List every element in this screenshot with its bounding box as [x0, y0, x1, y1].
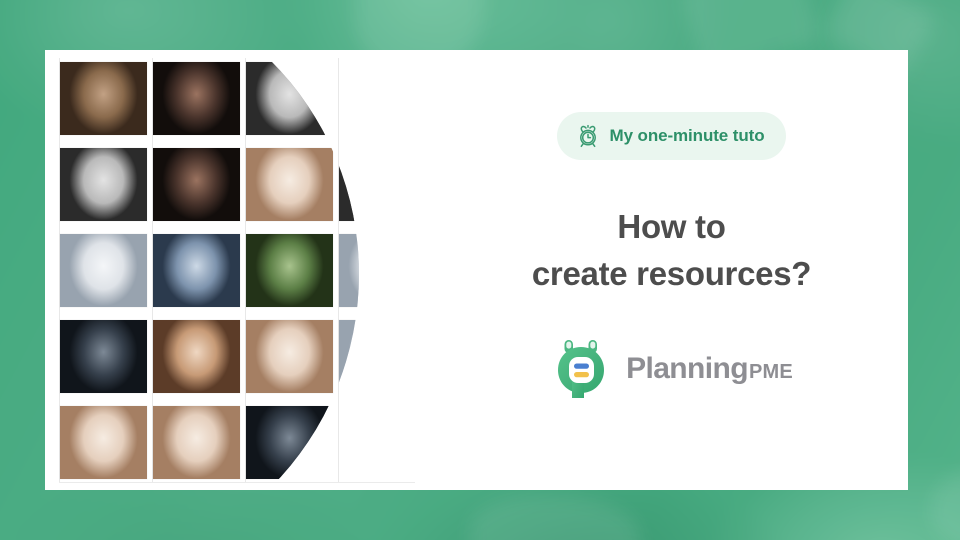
grid-rule-vertical [152, 58, 153, 482]
portrait-image [60, 320, 147, 393]
content-column: My one-minute tuto How to create resourc… [435, 50, 908, 490]
page-title: How to create resources? [532, 204, 811, 298]
portrait-thumbnail [339, 148, 426, 221]
photo-cell [243, 142, 336, 228]
photo-grid [57, 56, 429, 484]
portrait-image [153, 148, 240, 221]
grid-rule-vertical [245, 58, 246, 482]
content-card: My one-minute tuto How to create resourc… [45, 50, 908, 490]
portrait-image [60, 234, 147, 307]
portrait-image [246, 62, 333, 135]
tutorial-badge-label: My one-minute tuto [610, 126, 765, 146]
photo-cell [243, 228, 336, 314]
portrait-thumbnail [246, 148, 333, 221]
photo-cell [150, 142, 243, 228]
photo-cell [57, 314, 150, 400]
page-title-line-2: create resources? [532, 251, 811, 298]
portrait-thumbnail [246, 406, 333, 479]
planningpme-logo-icon [550, 338, 612, 400]
portrait-image [246, 320, 333, 393]
portrait-image [60, 62, 147, 135]
photo-cell [336, 400, 429, 486]
portrait-image [153, 320, 240, 393]
photo-cell [243, 56, 336, 142]
grid-rule-vertical [338, 58, 339, 482]
photo-cell [243, 400, 336, 486]
portrait-thumbnail [246, 62, 333, 135]
photo-cell [57, 142, 150, 228]
photo-wall [45, 50, 435, 490]
portrait-thumbnail [60, 62, 147, 135]
portrait-image [153, 62, 240, 135]
tutorial-badge: My one-minute tuto [557, 112, 787, 160]
portrait-thumbnail [60, 148, 147, 221]
portrait-image [339, 234, 426, 307]
brand-name-secondary: PME [749, 361, 793, 384]
portrait-image [60, 148, 147, 221]
portrait-thumbnail [60, 406, 147, 479]
slide-stage: My one-minute tuto How to create resourc… [0, 0, 960, 540]
portrait-thumbnail [339, 62, 426, 135]
photo-cell [336, 142, 429, 228]
portrait-thumbnail [60, 234, 147, 307]
photo-cell [336, 314, 429, 400]
portrait-image [60, 406, 147, 479]
photo-cell [150, 56, 243, 142]
brand-name-primary: Planning [626, 352, 748, 386]
brand-lockup: Planning PME [550, 338, 793, 400]
grid-rule-horizontal [59, 482, 415, 483]
portrait-image [339, 406, 426, 479]
portrait-thumbnail [246, 320, 333, 393]
portrait-thumbnail [153, 62, 240, 135]
portrait-thumbnail [339, 234, 426, 307]
grid-rule-vertical [59, 58, 60, 482]
portrait-thumbnail [339, 320, 426, 393]
photo-cell [57, 56, 150, 142]
photo-cell [150, 228, 243, 314]
photo-cell [336, 56, 429, 142]
portrait-image [339, 148, 426, 221]
portrait-thumbnail [153, 406, 240, 479]
alarm-clock-icon [575, 123, 601, 149]
portrait-thumbnail [60, 320, 147, 393]
photo-cell [336, 228, 429, 314]
portrait-thumbnail [246, 234, 333, 307]
portrait-image [246, 406, 333, 479]
portrait-image [339, 62, 426, 135]
page-title-line-1: How to [617, 208, 725, 245]
photo-cell [57, 400, 150, 486]
photo-cell [243, 314, 336, 400]
photo-cell [150, 400, 243, 486]
portrait-thumbnail [339, 406, 426, 479]
portrait-image [153, 234, 240, 307]
photo-cell [57, 228, 150, 314]
brand-wordmark: Planning PME [626, 352, 793, 386]
portrait-image [246, 234, 333, 307]
portrait-image [246, 148, 333, 221]
portrait-thumbnail [153, 320, 240, 393]
portrait-image [339, 320, 426, 393]
portrait-thumbnail [153, 234, 240, 307]
portrait-image [153, 406, 240, 479]
photo-cell [150, 314, 243, 400]
portrait-thumbnail [153, 148, 240, 221]
